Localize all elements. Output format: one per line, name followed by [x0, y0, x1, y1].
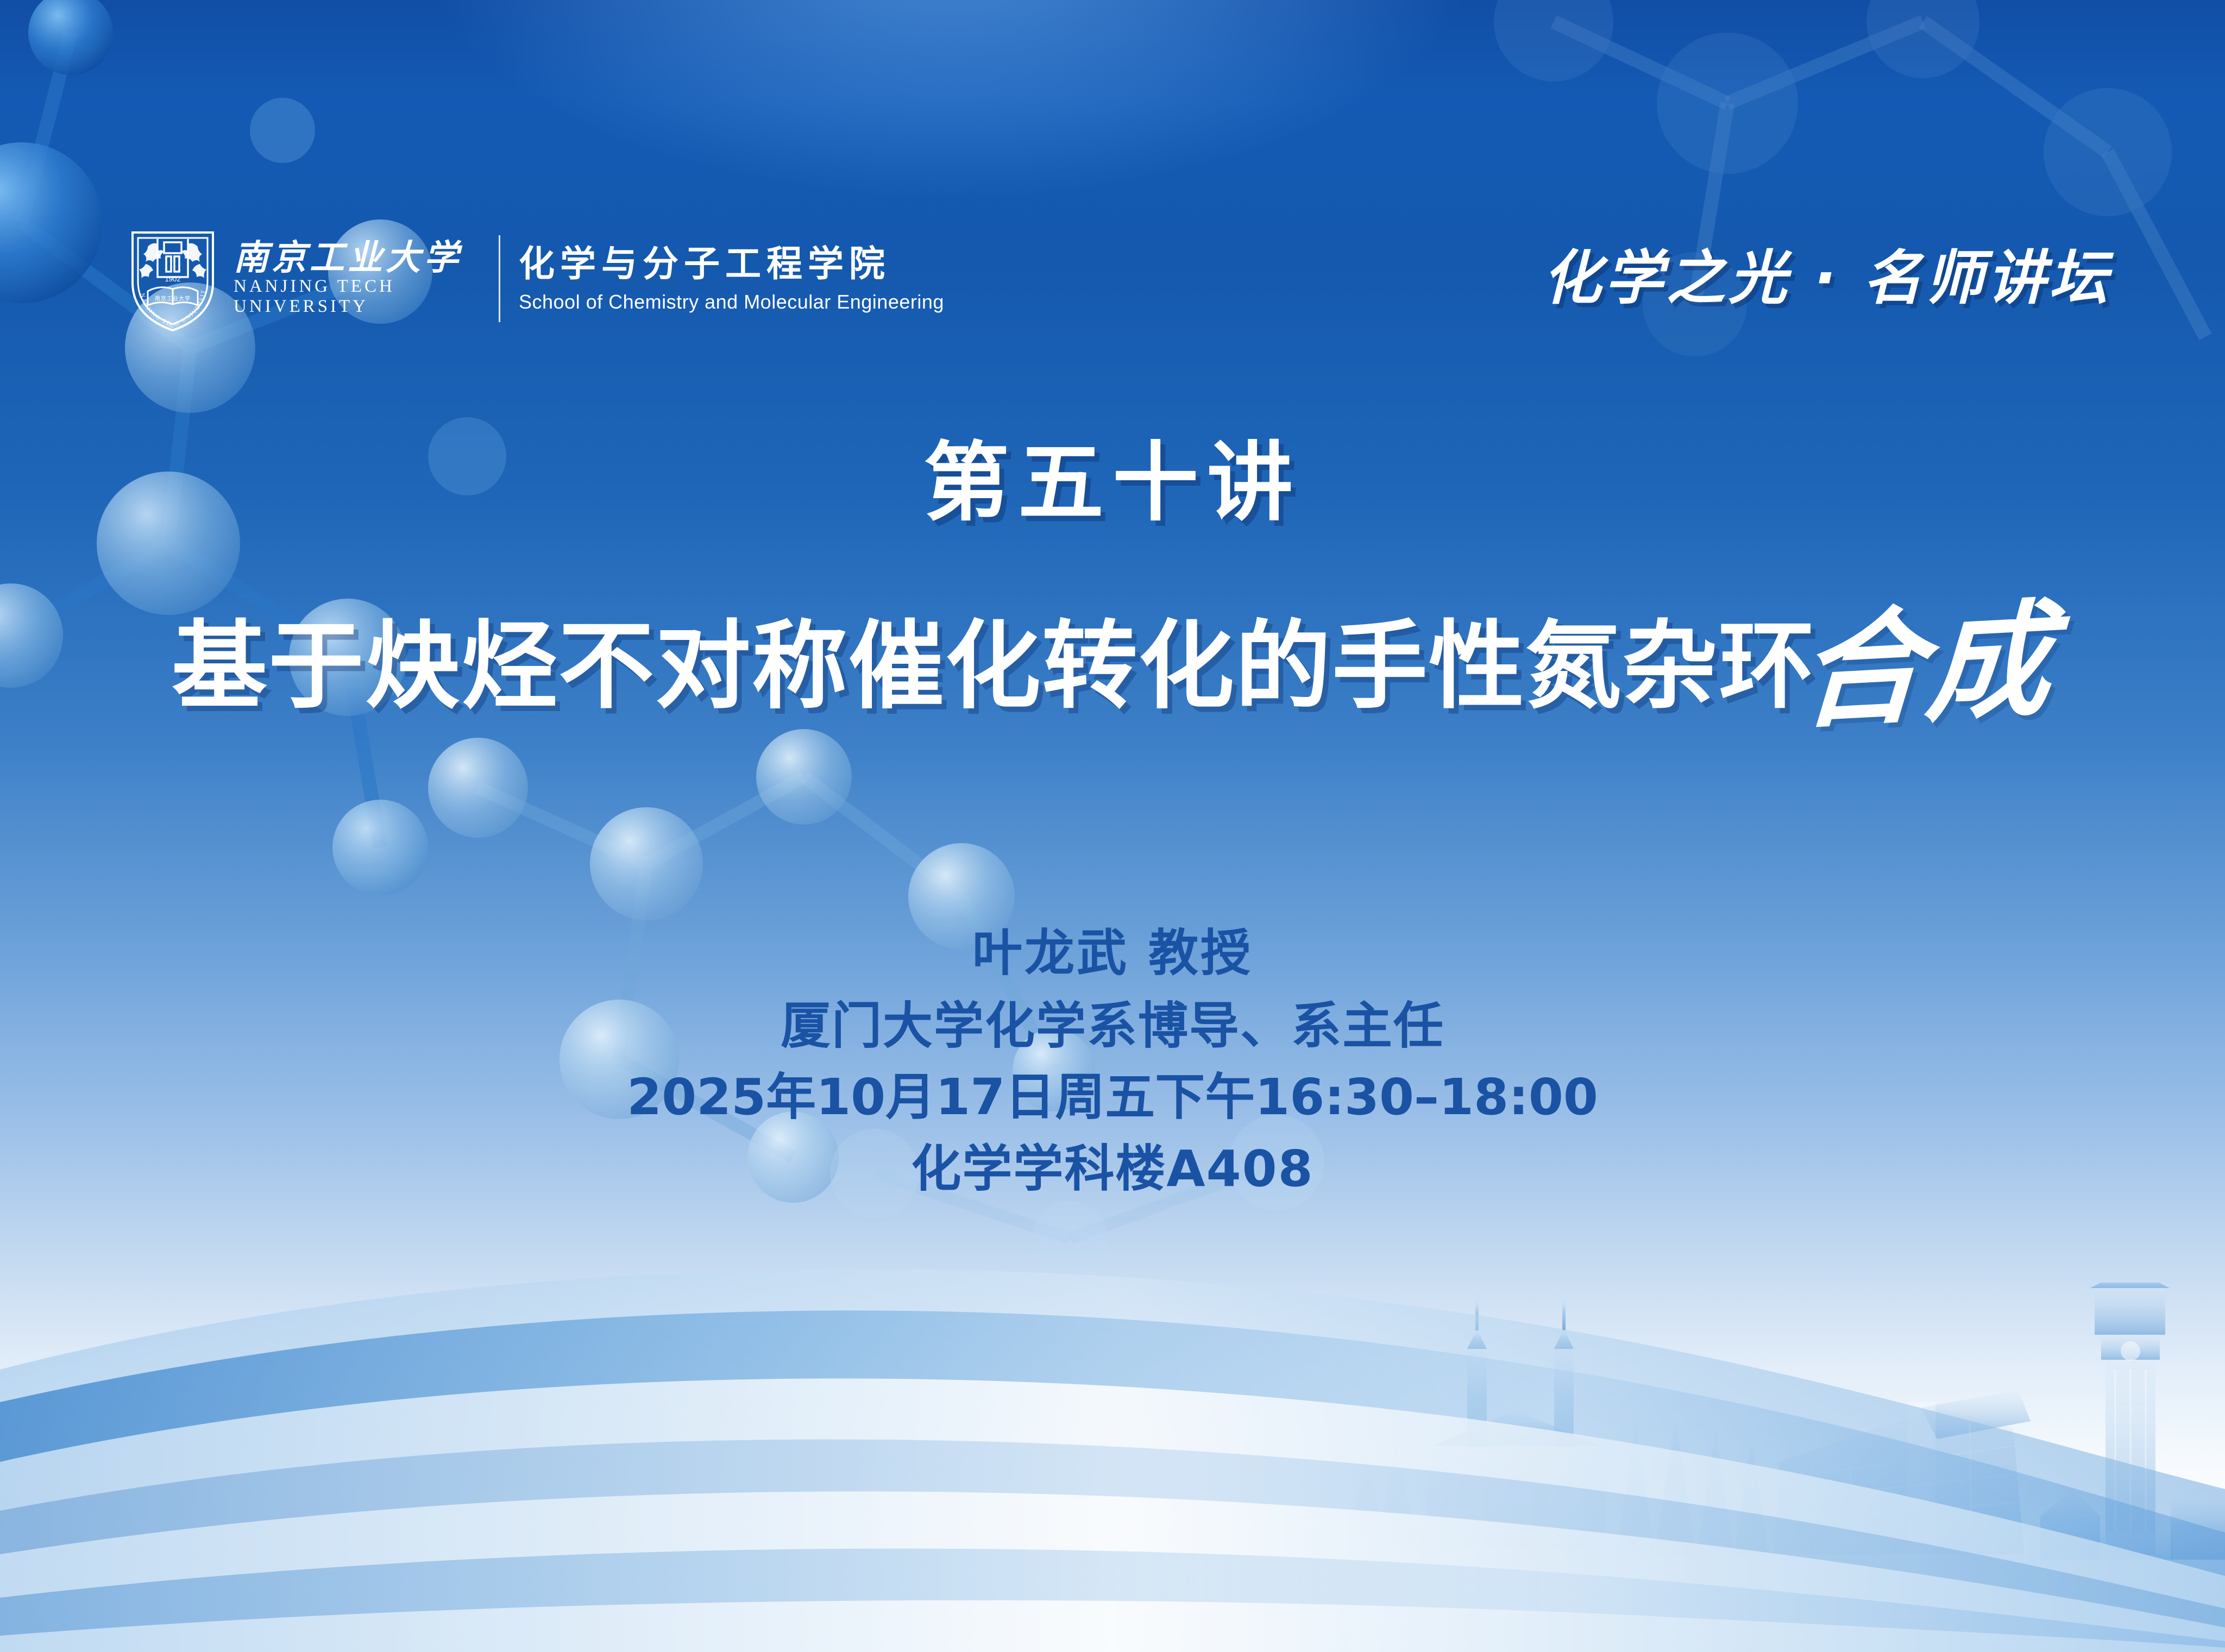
- wave-ribbon-icon: [0, 1207, 2225, 1652]
- lecture-title-row: 基于炔烃不对称催化转化的手性氮杂环 合成: [0, 589, 2225, 714]
- logo-divider: [499, 235, 500, 322]
- crest-year: 1902: [165, 275, 181, 283]
- series-badge: 化学之光 · 名师讲坛: [1543, 231, 2111, 316]
- lecture-datetime: 2025年10月17日周五下午16:30–18:00: [0, 1065, 2225, 1130]
- school-name-en: School of Chemistry and Molecular Engine…: [519, 291, 944, 313]
- university-name-block: 南京工业大学 NANJING TECH UNIVERSITY: [234, 240, 480, 317]
- speaker-name: 叶龙武 教授: [0, 921, 2225, 986]
- speaker-affiliation: 厦门大学化学系博导、系主任: [0, 994, 2225, 1059]
- school-name-cn: 化学与分子工程学院: [519, 243, 944, 285]
- university-name-en-line1: NANJING TECH: [234, 277, 462, 297]
- poster-root: 1902 南京工业大学 NANJING TECH UNIVERSITY 南京工业…: [0, 0, 2225, 1652]
- lecture-title-brush: 合成: [1796, 596, 2056, 735]
- school-name-block: 化学与分子工程学院 School of Chemistry and Molecu…: [519, 243, 944, 314]
- lecture-details: 叶龙武 教授 厦门大学化学系博导、系主任 2025年10月17日周五下午16:3…: [0, 921, 2225, 1201]
- nanjing-tech-crest-icon: 1902 南京工业大学 NANJING TECH UNIVERSITY: [124, 223, 222, 334]
- university-logo-block: 1902 南京工业大学 NANJING TECH UNIVERSITY 南京工业…: [124, 223, 944, 334]
- lecture-number: 第五十讲: [0, 440, 2225, 526]
- university-name-cn: 南京工业大学: [234, 240, 462, 277]
- university-name-en-line2: UNIVERSITY: [234, 297, 462, 317]
- crest-center-text: 南京工业大学: [155, 295, 191, 302]
- lecture-venue: 化学学科楼A408: [0, 1136, 2225, 1202]
- lecture-title-main: 基于炔烃不对称催化转化的手性氮杂环: [172, 619, 1815, 714]
